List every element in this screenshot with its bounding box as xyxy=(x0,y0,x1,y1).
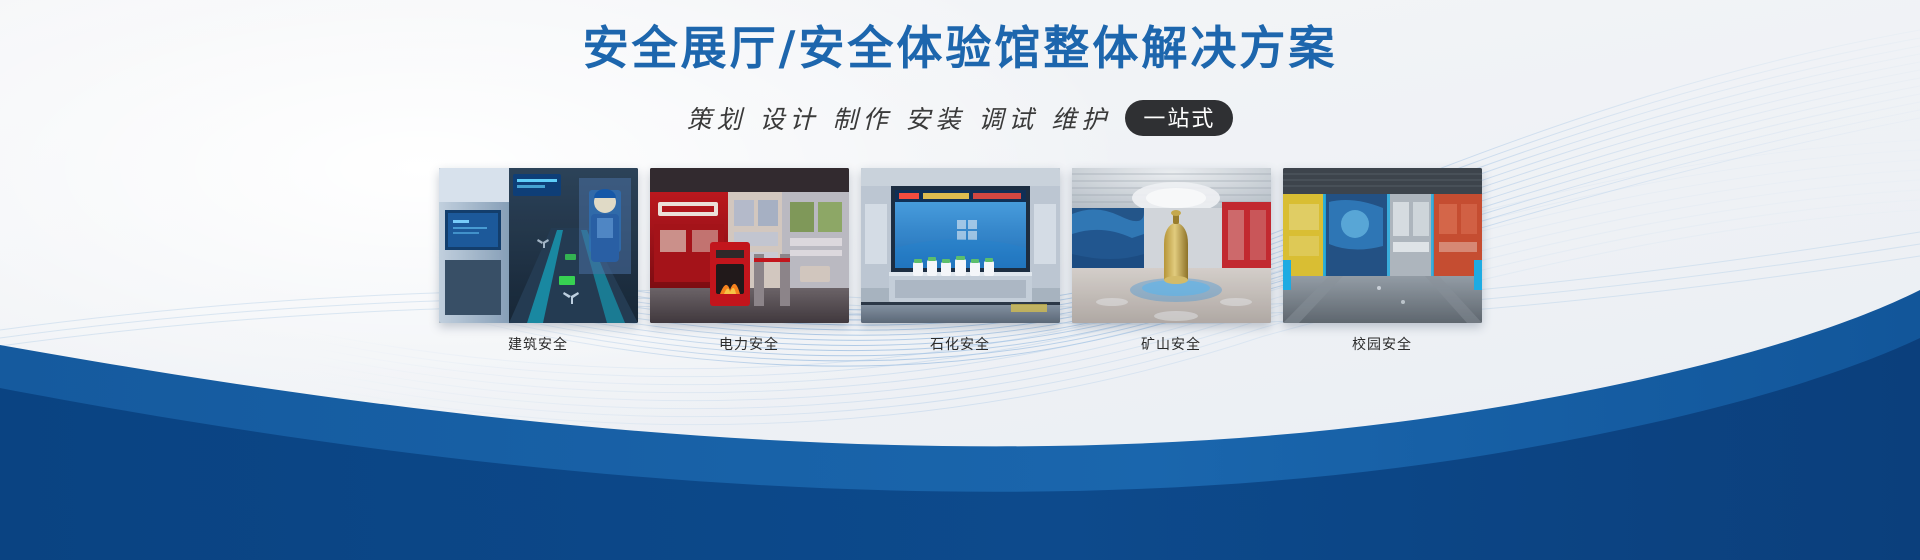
scene-image xyxy=(1283,168,1482,323)
card-caption: 建筑安全 xyxy=(508,334,568,354)
scene-image xyxy=(861,168,1060,323)
page-title: 安全展厅/安全体验馆整体解决方案 xyxy=(0,22,1920,75)
banner-title-block: 安全展厅/安全体验馆整体解决方案 xyxy=(0,22,1920,75)
promo-banner: 安全展厅/安全体验馆整体解决方案 策划 设计 制作 安装 调试 维护 一站式 xyxy=(0,0,1920,560)
showcase-card[interactable]: 矿山安全 xyxy=(1072,168,1271,354)
scene-image xyxy=(439,168,638,323)
thumbnail-petrochemical-safety-hall[interactable] xyxy=(861,168,1060,323)
card-caption: 校园安全 xyxy=(1352,334,1412,354)
one-stop-badge: 一站式 xyxy=(1125,100,1233,136)
card-caption: 电力安全 xyxy=(719,334,779,354)
thumbnail-construction-safety-hall[interactable] xyxy=(439,168,638,323)
card-caption: 石化安全 xyxy=(930,334,990,354)
service-steps-text: 策划 设计 制作 安装 调试 维护 xyxy=(687,100,1112,136)
thumbnail-campus-safety-hall[interactable] xyxy=(1283,168,1482,323)
showcase-card[interactable]: 石化安全 xyxy=(861,168,1060,354)
banner-subtitle-row: 策划 设计 制作 安装 调试 维护 一站式 xyxy=(0,100,1920,136)
card-caption: 矿山安全 xyxy=(1141,334,1201,354)
scene-image xyxy=(1072,168,1271,323)
showcase-card[interactable]: 电力安全 xyxy=(650,168,849,354)
showcase-card[interactable]: 校园安全 xyxy=(1283,168,1482,354)
showcase-card-list: 建筑安全 xyxy=(0,168,1920,354)
scene-image xyxy=(650,168,849,323)
showcase-card[interactable]: 建筑安全 xyxy=(439,168,638,354)
thumbnail-power-safety-hall[interactable] xyxy=(650,168,849,323)
thumbnail-mining-safety-hall[interactable] xyxy=(1072,168,1271,323)
